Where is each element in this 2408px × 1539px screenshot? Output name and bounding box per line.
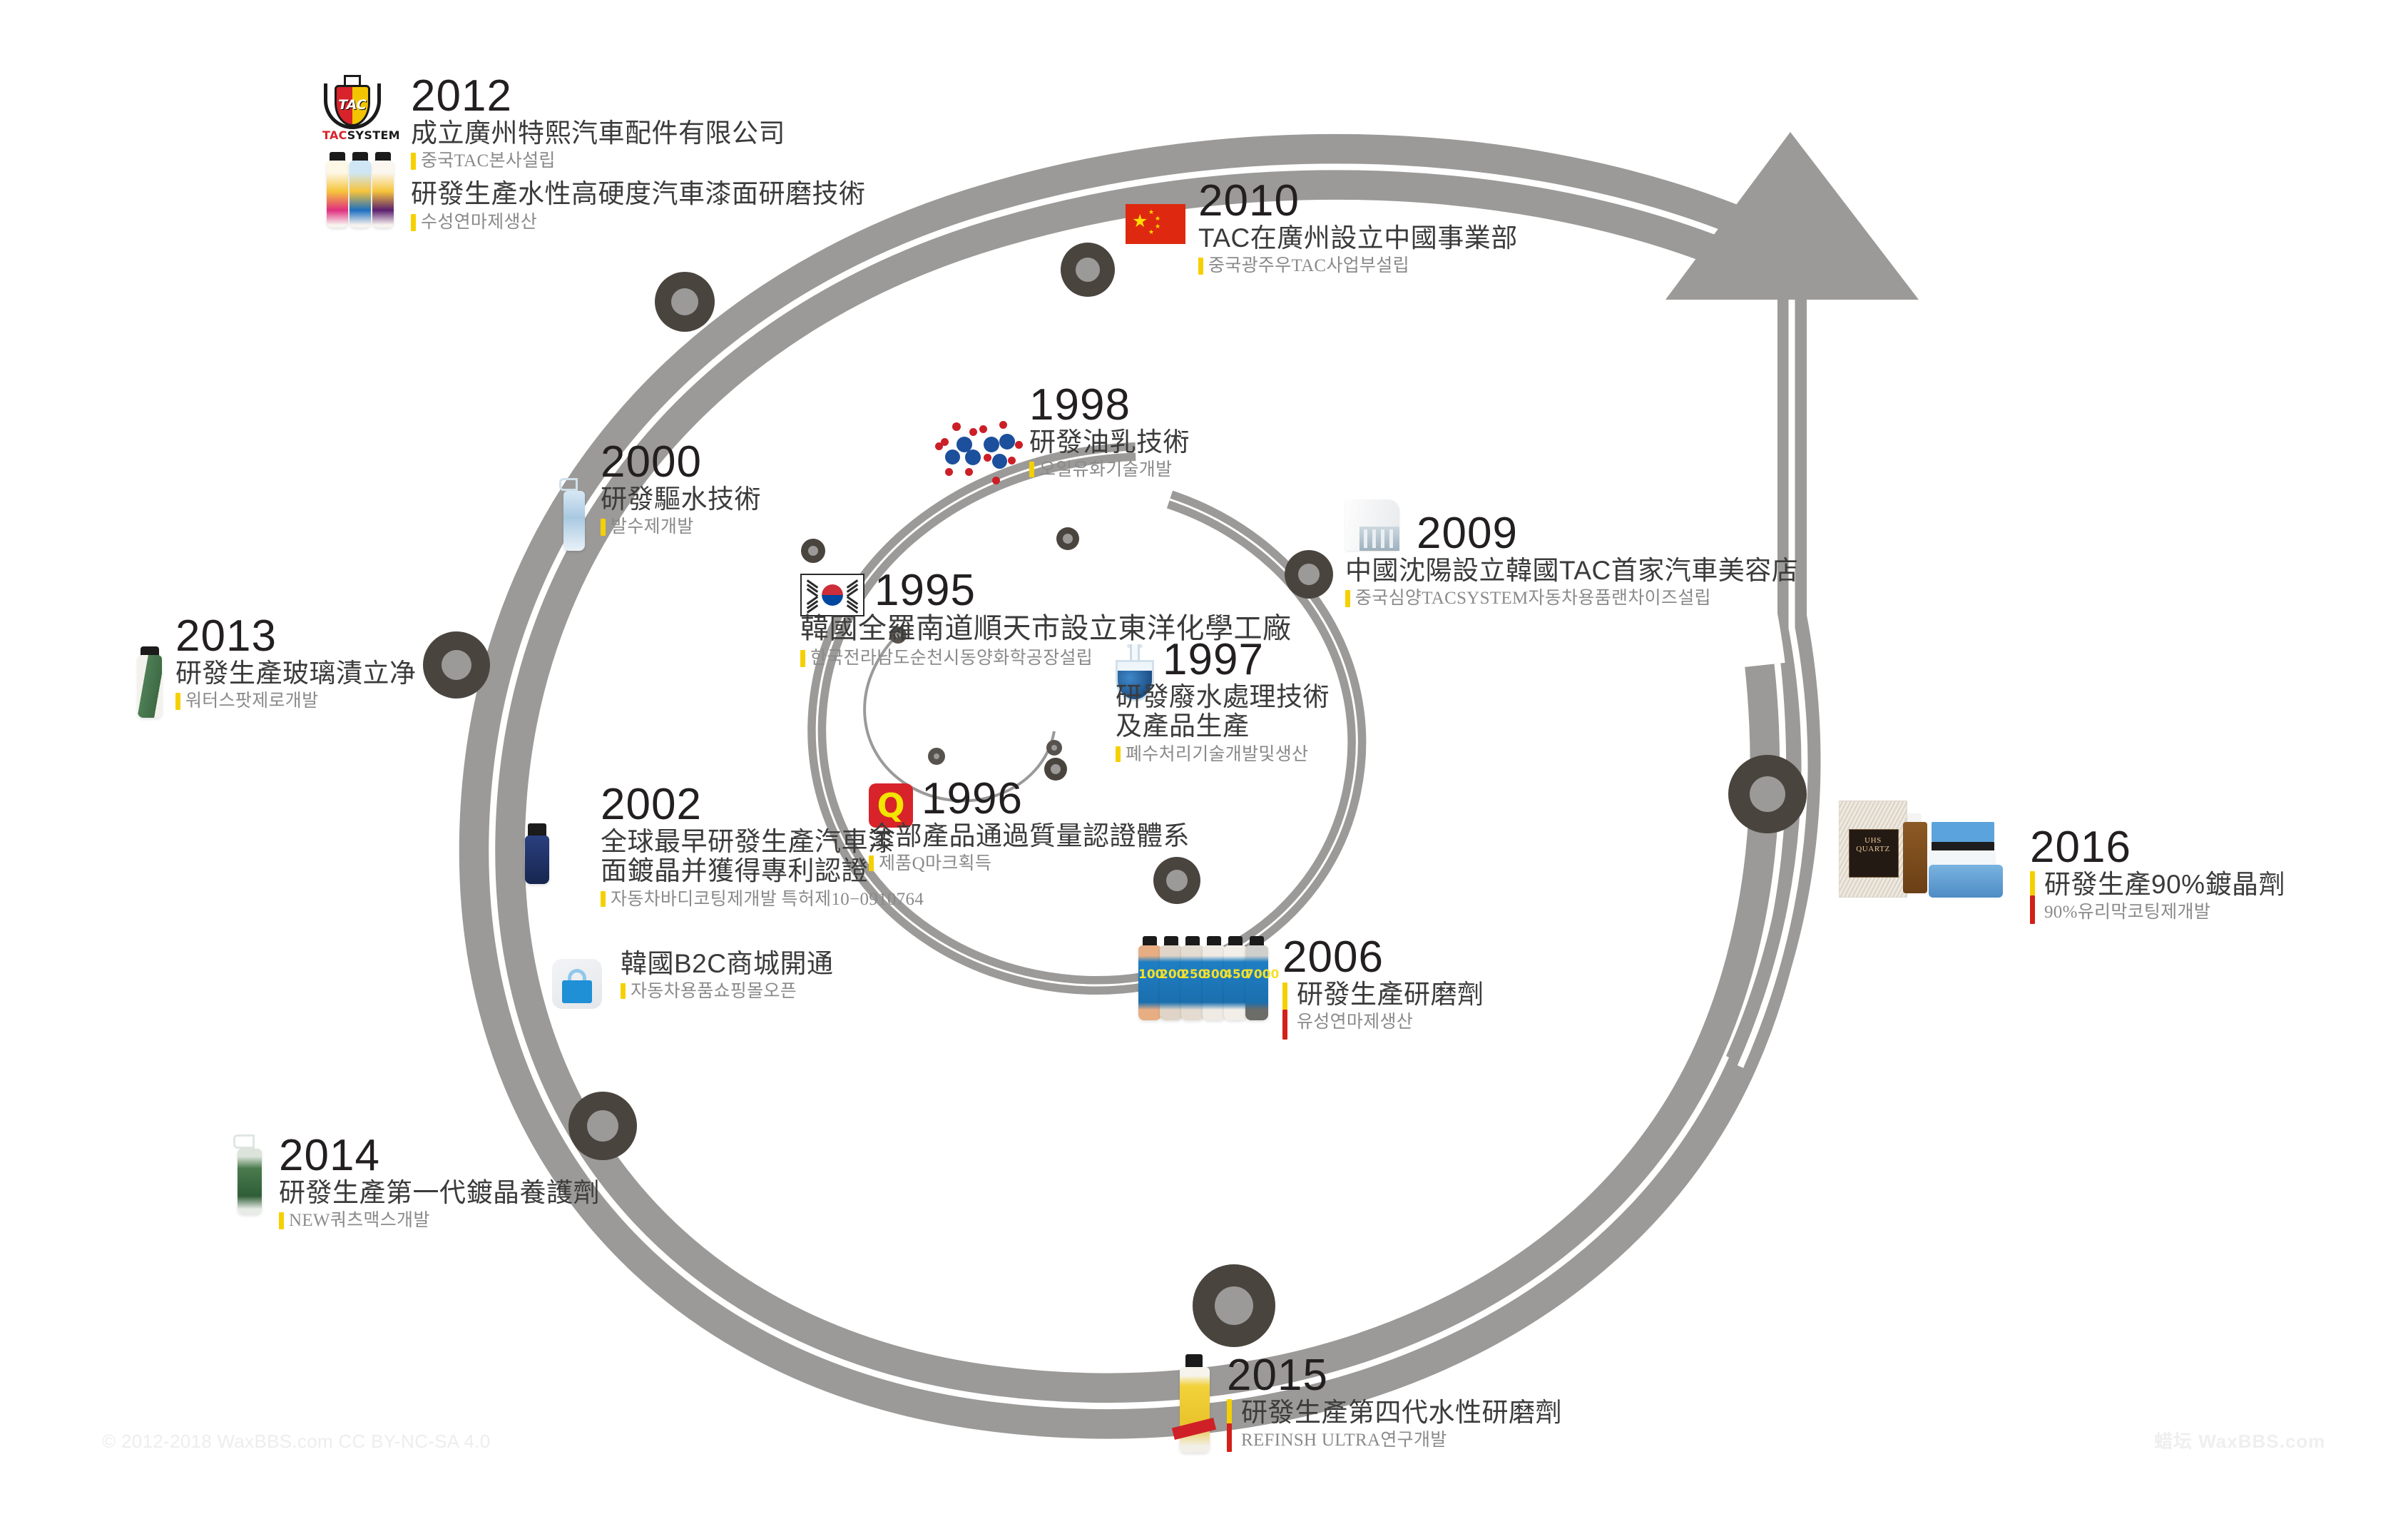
event-1996-year: 1996 [922, 778, 1190, 821]
event-2015[interactable]: 2015 研發生產第四代水性研磨劑 REFINSH ULTRA연구개발 [1175, 1348, 1562, 1454]
event-2000-year: 2000 [601, 441, 761, 484]
event-2012-line-2-kr: 수성연마제생산 [421, 211, 866, 233]
event-2000-line-kr: 발수제개발 [611, 516, 761, 538]
coating-bottle-icon [519, 823, 559, 885]
event-1998-line-kr: 오일유화기술개발 [1039, 459, 1190, 481]
event-2009-sub-wrap: 중국심양TACSYSTEM자동차용품랜차이즈설립 [1345, 587, 1798, 609]
event-2002[interactable]: 2002 全球最早研發生產汽車漆 面鍍晶并獲得專利認證 자동차바디코팅제개발 특… [519, 783, 924, 1009]
event-2010-sub-wrap: 중국광주우TAC사업부설립 [1198, 255, 1518, 277]
event-2014-year: 2014 [279, 1134, 600, 1178]
event-2013-text: 2013 研發生產玻璃漬立净 워터스팟제로개발 [175, 615, 417, 712]
road-marker-tiny [1046, 740, 1062, 756]
accent-tick-icon [1282, 982, 1287, 1010]
event-2000-line-cn: 研發驅水技術 [601, 484, 761, 514]
event-2013-sub-wrap: 워터스팟제로개발 [175, 690, 417, 712]
event-2010-line-kr: 중국광주우TAC사업부설립 [1208, 255, 1518, 277]
event-2009-line-cn: 中國沈陽設立韓國TAC首家汽車美容店 [1345, 556, 1798, 585]
tac-shield-text: TAC [337, 97, 368, 113]
road-marker [1728, 755, 1807, 833]
shopping-bag-icon [552, 959, 602, 1009]
event-2016-text: 2016 研發生產90%鍍晶劑 90%유리막코팅제개발 [2030, 826, 2285, 923]
quartz-max-spray-icon [232, 1134, 269, 1214]
event-2013[interactable]: 2013 研發生產玻璃漬立净 워터스팟제로개발 [134, 615, 417, 718]
molecule-icon [931, 418, 1022, 487]
event-2015-line-kr: REFINSH ULTRA연구개발 [1241, 1429, 1562, 1451]
event-2010[interactable]: ★ ★ ★ ★ ★ 2010 TAC在廣州設立中國事業部 중국광주우TAC사업부… [1126, 180, 1518, 277]
event-1997-line-cn: 研發廢水處理技術 [1116, 682, 1330, 711]
road-marker-small [1056, 527, 1079, 550]
event-2014[interactable]: 2014 研發生產第一代鍍晶養護劑 NEW쿼츠맥스개발 [232, 1127, 600, 1231]
bottle-label: 100 [1138, 967, 1160, 982]
korea-flag-icon [800, 574, 864, 616]
event-2000-icon [558, 478, 591, 551]
event-2002-icons [519, 823, 591, 1009]
water-glass-spray-icon [558, 478, 591, 551]
event-2010-line-cn: TAC在廣州設立中國事業部 [1198, 223, 1518, 253]
china-flag-icon: ★ ★ ★ ★ ★ [1126, 204, 1185, 244]
event-2010-icon: ★ ★ ★ ★ ★ [1126, 204, 1185, 244]
accent-tick-icon [601, 891, 606, 907]
compound-bottles-icon: 100 200 250 300 450 7000 [1136, 936, 1271, 1026]
event-2000-text: 2000 研發驅水技術 발수제개발 [601, 441, 761, 538]
event-2013-year: 2013 [175, 615, 417, 659]
bottle-label: 250 [1181, 967, 1203, 982]
event-2013-line-kr: 워터스팟제로개발 [185, 690, 417, 712]
accent-tick-icon [1116, 746, 1121, 762]
event-2014-sub-wrap: NEW쿼츠맥스개발 [279, 1209, 600, 1231]
road-marker-small [801, 539, 825, 563]
event-2000[interactable]: 2000 研發驅水技術 발수제개발 [558, 441, 761, 551]
event-2002-line-2-cn: 韓國B2C商城開通 [621, 949, 924, 978]
event-2002-line-2-kr: 자동차용품쇼핑몰오픈 [631, 980, 924, 1002]
event-2012[interactable]: TAC TACSYSTEM 2012 成立廣州特熙汽車配件有限公司 [322, 75, 866, 238]
road-marker-tiny [928, 748, 945, 765]
event-2015-body: 研發生產第四代水性研磨劑 REFINSH ULTRA연구개발 [1227, 1398, 1562, 1452]
event-2014-line-kr: NEW쿼츠맥스개발 [289, 1209, 600, 1231]
road-marker [1061, 243, 1115, 297]
bottle-label: 450 [1224, 967, 1245, 982]
event-1995-year: 1995 [874, 569, 1292, 613]
event-1997-line-cn2: 及產品生產 [1116, 711, 1330, 741]
accent-tick-icon [279, 1212, 284, 1229]
event-1998-icon [931, 418, 1022, 487]
accent-tick-icon [1198, 258, 1203, 275]
accent-tick-red-icon [2030, 895, 2035, 924]
event-2014-line-cn: 研發生產第一代鍍晶養護劑 [279, 1178, 600, 1207]
event-1996-text: 1996 全部產品通過質量認證體系 제품Q마크획득 [922, 778, 1190, 875]
event-2002-line-1-cn2: 面鍍晶并獲得專利認證 [601, 856, 924, 885]
event-2006-year: 2006 [1282, 936, 1484, 980]
event-2006-icon: 100 200 250 300 450 7000 [1136, 936, 1271, 1026]
accent-tick-icon [1345, 590, 1350, 607]
accent-tick-icon [175, 693, 180, 710]
site-watermark: 蜡坛 WaxBBS.com [2154, 1427, 2325, 1453]
event-1998[interactable]: 1998 研發油乳技術 오일유화기술개발 [931, 384, 1190, 487]
tac-system-wordmark: TACSYSTEM [322, 128, 382, 142]
event-2015-year: 2015 [1227, 1354, 1562, 1398]
event-2012-text: 2012 成立廣州特熙汽車配件有限公司 중국TAC본사설립 研發生產水性高硬度汽… [411, 75, 866, 238]
event-2009[interactable]: 2009 中國沈陽設立韓國TAC首家汽車美容店 중국심양TACSYSTEM자동차… [1341, 492, 1798, 609]
bottle-label: 300 [1203, 967, 1224, 982]
event-1998-line-cn: 研發油乳技術 [1029, 427, 1190, 457]
accent-tick-icon [1029, 462, 1034, 477]
road-marker [655, 272, 715, 332]
event-1997[interactable]: 1997 研發廢水處理技術 及產品生產 폐수처리기술개발및생산 [1113, 639, 1330, 766]
event-2012-line-1-kr: 중국TAC본사설립 [421, 150, 866, 172]
event-2013-icon [134, 646, 165, 718]
event-2006[interactable]: 100 200 250 300 450 7000 2006 研發生產研磨劑 유성… [1136, 920, 1484, 1033]
event-2016-line-cn: 研發生產90%鍍晶劑 [2044, 870, 2285, 899]
event-2015-icon [1175, 1354, 1215, 1454]
tac-logo-icon: TAC TACSYSTEM [322, 75, 382, 141]
accent-tick-icon [601, 519, 606, 536]
accent-tick-icon [621, 983, 626, 999]
building-icon [1341, 497, 1409, 558]
tac-word-dark: SYSTEM [347, 128, 400, 142]
event-2006-text: 2006 研發生產研磨劑 유성연마제생산 [1282, 936, 1484, 1033]
event-2016-year: 2016 [2030, 826, 2285, 870]
event-2002-sub-2-wrap: 자동차용품쇼핑몰오픈 [621, 980, 924, 1002]
event-2010-text: 2010 TAC在廣州設立中國事業部 중국광주우TAC사업부설립 [1198, 180, 1518, 277]
uhs-quartz-label: UHS QUARTZ [1849, 836, 1897, 853]
event-1998-text: 1998 研發油乳技術 오일유화기술개발 [1029, 384, 1190, 481]
event-1996-line-kr: 제품Q마크획득 [879, 853, 1190, 875]
event-1997-sub-wrap: 폐수처리기술개발및생산 [1116, 743, 1330, 766]
event-1997-year: 1997 [1163, 639, 1330, 682]
event-2000-sub-wrap: 발수제개발 [601, 516, 761, 538]
event-2015-text: 2015 研發生產第四代水性研磨劑 REFINSH ULTRA연구개발 [1227, 1354, 1562, 1451]
infographic-canvas: TAC TACSYSTEM 2012 成立廣州特熙汽車配件有限公司 [0, 0, 2408, 1539]
accent-tick-icon [800, 650, 805, 667]
event-2013-line-cn: 研發生產玻璃漬立净 [175, 659, 417, 688]
event-2012-line-2-cn: 研發生產水性高硬度汽車漆面研磨技術 [411, 179, 866, 208]
bottle-label: 200 [1160, 967, 1181, 982]
event-2002-year: 2002 [601, 783, 924, 827]
event-2014-icon [232, 1134, 269, 1214]
event-2014-text: 2014 研發生產第一代鍍晶養護劑 NEW쿼츠맥스개발 [279, 1134, 600, 1231]
polish-bottles-icon [322, 152, 399, 230]
accent-tick-red-icon [1282, 1010, 1287, 1040]
wz-water-zero-bottle-icon [134, 646, 165, 718]
event-2016[interactable]: UHS QUARTZ 2016 研發生產90%鍍晶劑 90%유리막코팅제개발 [1839, 792, 2285, 923]
road-marker [423, 631, 490, 699]
event-2016-line-kr: 90%유리막코팅제개발 [2044, 901, 2285, 923]
event-1995-icon [800, 574, 864, 616]
road-marker [1285, 550, 1333, 599]
accent-tick-icon [411, 214, 416, 231]
event-1998-year: 1998 [1029, 384, 1190, 427]
accent-tick-icon [2030, 871, 2035, 895]
copyright-notice: © 2012-2018 WaxBBS.com CC BY-NC-SA 4.0 [102, 1431, 491, 1453]
event-2006-line-cn: 研發生產研磨劑 [1297, 980, 1484, 1009]
uhs-quartz-kit-icon: UHS QUARTZ [1839, 792, 2017, 906]
event-2010-year: 2010 [1198, 180, 1518, 223]
event-2002-text: 2002 全球最早研發生產汽車漆 面鍍晶并獲得專利認證 자동차바디코팅제개발 특… [601, 783, 924, 1003]
event-2009-text: 2009 中國沈陽設立韓國TAC首家汽車美容店 중국심양TACSYSTEM자동차… [1417, 512, 1798, 609]
event-2006-line-kr: 유성연마제생산 [1297, 1011, 1484, 1033]
event-2016-body: 研發生產90%鍍晶劑 90%유리막코팅제개발 [2030, 870, 2285, 924]
event-2009-icon [1341, 497, 1409, 558]
road-marker [1193, 1264, 1275, 1347]
event-2002-line-1-kr: 자동차바디코팅제개발 특허제10−0910764 [611, 888, 924, 910]
event-2002-sub-1-wrap: 자동차바디코팅제개발 특허제10−0910764 [601, 888, 924, 910]
bottle-label: 7000 [1245, 967, 1268, 982]
accent-tick-red-icon [1227, 1423, 1232, 1452]
event-1997-line-kr: 폐수처리기술개발및생산 [1126, 743, 1330, 766]
accent-tick-icon [1227, 1399, 1232, 1423]
event-2012-line-1-cn: 成立廣州特熙汽車配件有限公司 [411, 118, 866, 148]
event-2012-icons: TAC TACSYSTEM [322, 75, 401, 230]
event-2009-year: 2009 [1417, 512, 1798, 556]
event-1998-sub-wrap: 오일유화기술개발 [1029, 459, 1190, 481]
event-2012-line-1: 成立廣州特熙汽車配件有限公司 중국TAC본사설립 [411, 118, 866, 173]
event-2009-line-kr: 중국심양TACSYSTEM자동차용품랜차이즈설립 [1355, 587, 1798, 609]
event-2012-line-2: 研發生產水性高硬度汽車漆面研磨技術 수성연마제생산 [411, 179, 866, 233]
event-1997-text: 1997 研發廢水處理技術 及產品生產 폐수처리기술개발및생산 [1163, 639, 1330, 766]
event-2012-year: 2012 [411, 75, 866, 118]
event-2002-line-1-cn: 全球最早研發生產汽車漆 [601, 827, 924, 856]
event-2016-icon: UHS QUARTZ [1839, 792, 2017, 906]
refinish-ultra-bottle-icon [1175, 1354, 1215, 1454]
event-2015-line-cn: 研發生產第四代水性研磨劑 [1241, 1398, 1562, 1427]
event-2006-body: 研發生產研磨劑 유성연마제생산 [1282, 980, 1484, 1034]
tac-word-red: TAC [322, 128, 347, 142]
event-2012-sub-1-wrap: 중국TAC본사설립 [411, 150, 866, 172]
event-2012-sub-2-wrap: 수성연마제생산 [411, 211, 866, 233]
accent-tick-icon [411, 153, 416, 170]
